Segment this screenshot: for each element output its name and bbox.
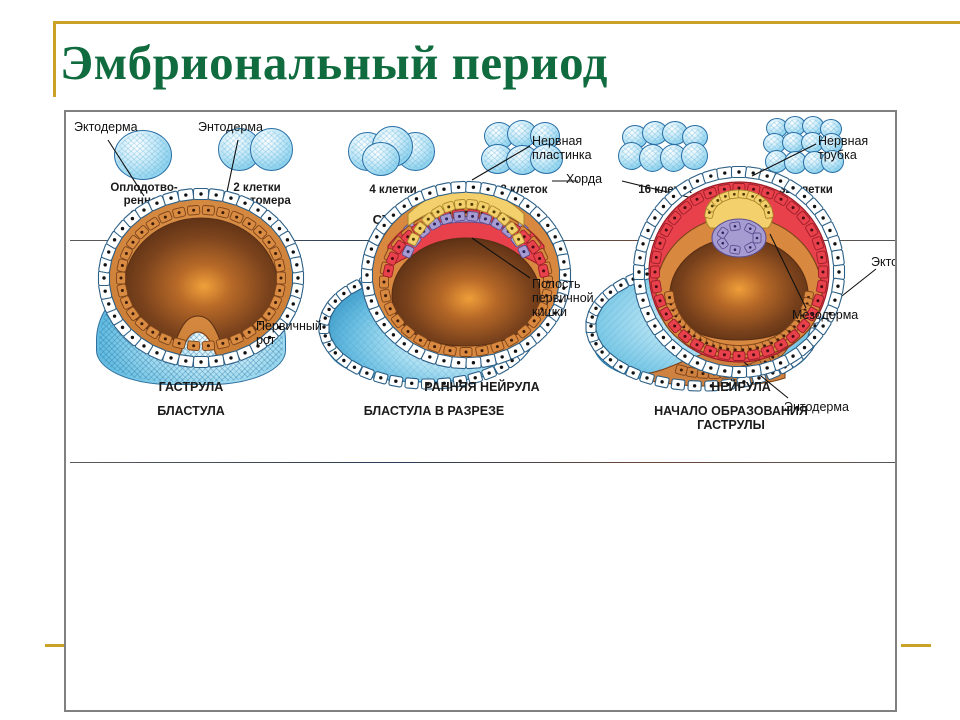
cell-16-b4 — [681, 142, 708, 170]
leader-neural-plate — [456, 142, 546, 187]
leader-mesoderm — [766, 230, 826, 315]
leader-gut-cavity — [464, 234, 544, 284]
panel-label-early-neurula: РАННЯЯ НЕЙРУЛА — [382, 380, 582, 394]
row-divider-2 — [70, 462, 895, 463]
page-title: Эмбриональный период — [60, 34, 608, 92]
embryology-diagram: Оплодотво- ренное яйцо 2 клетки бластоме… — [64, 110, 897, 712]
callout-ectoderm-g3: Эктодерма — [74, 120, 138, 134]
left-gold-rule — [53, 21, 56, 97]
panel-label-gastrula: ГАСТРУЛА — [116, 380, 266, 394]
right-gold-tick — [901, 644, 931, 647]
leader-notochord-left — [552, 174, 582, 188]
panel-label-blastula-section: БЛАСТУЛА В РАЗРЕЗЕ — [324, 404, 544, 418]
panel-label-neurula: НЕЙРУЛА — [666, 380, 816, 394]
panel-label-blastula: БЛАСТУЛА — [121, 404, 261, 418]
top-gold-rule — [53, 21, 960, 24]
panel-label-early-gastrula: НАЧАЛО ОБРАЗОВАНИЯ ГАСТРУЛЫ — [606, 404, 856, 432]
callout-endoderm-g3: Энтодерма — [198, 120, 263, 134]
leader-neural-tube — [742, 140, 826, 182]
callout-blastopore: Первичный рот — [256, 319, 322, 347]
